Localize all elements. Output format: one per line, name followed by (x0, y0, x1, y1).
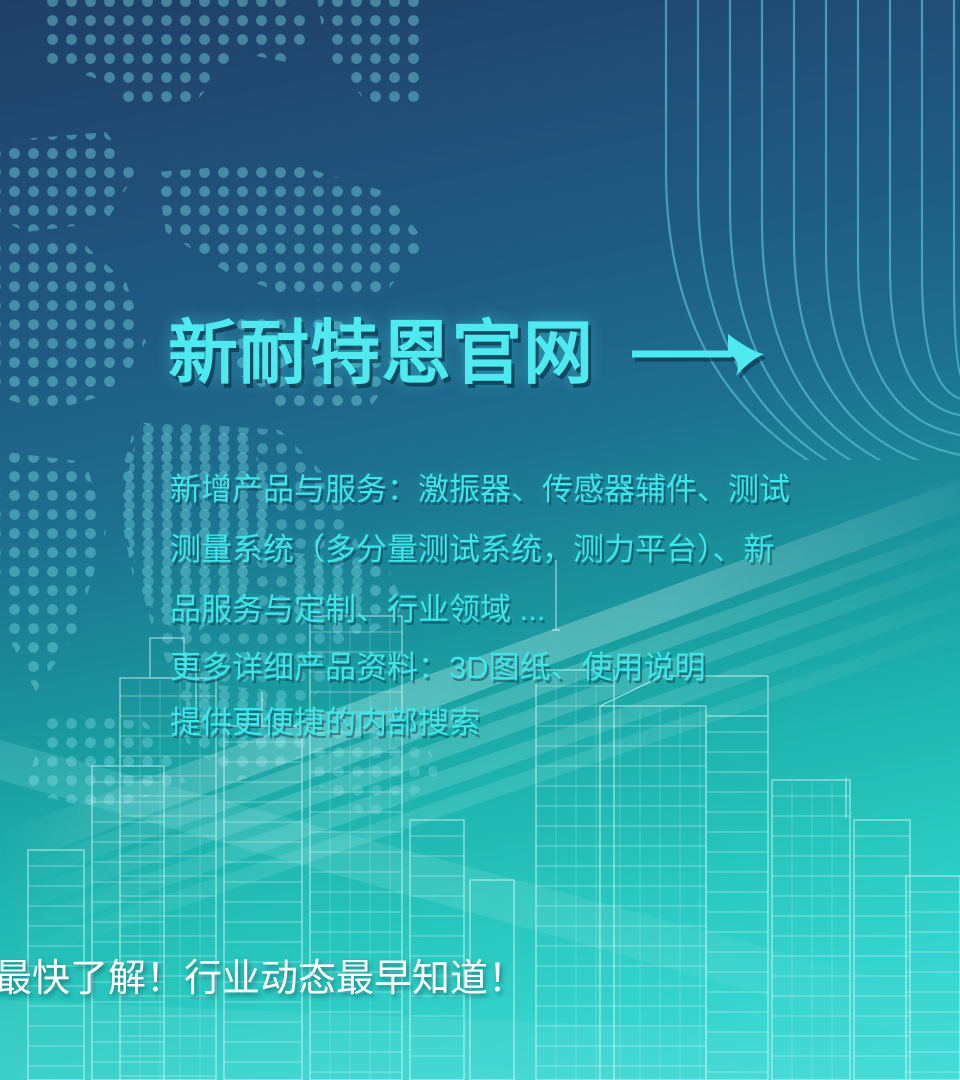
promo-banner: 新耐特恩官网 新增产品与服务：激振器、传感器辅件、测试 测量系统（多分量测试系统… (0, 0, 960, 1080)
body-line-1: 新增产品与服务：激振器、传感器辅件、测试 (170, 460, 870, 520)
banner-content: 新耐特恩官网 新增产品与服务：激振器、传感器辅件、测试 测量系统（多分量测试系统… (0, 0, 960, 1080)
body-line-4: 更多详细产品资料：3D图纸、使用说明 (170, 640, 870, 695)
body-line-5: 提供更便捷的内部搜索 (170, 695, 870, 750)
footer-tagline: 最快了解！行业动态最早知道！ (0, 957, 526, 1003)
page-title: 新耐特恩官网 (168, 318, 594, 388)
banner-title-row: 新耐特恩官网 (168, 318, 766, 388)
arrow-right-icon (630, 327, 766, 379)
body-line-2: 测量系统（多分量测试系统，测力平台）、新 (170, 520, 870, 580)
body-line-3: 品服务与定制、行业领域 ... (170, 580, 870, 640)
banner-body: 新增产品与服务：激振器、传感器辅件、测试 测量系统（多分量测试系统，测力平台）、… (170, 460, 870, 750)
